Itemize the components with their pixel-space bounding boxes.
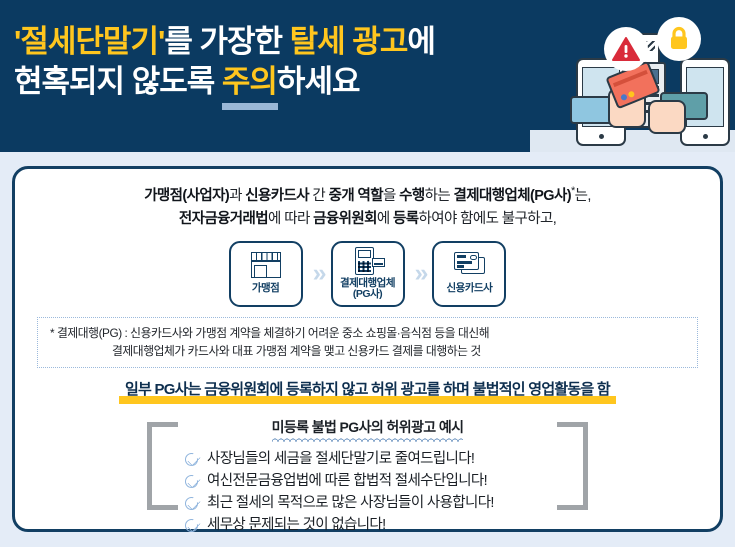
card-dot-yellow <box>627 90 635 98</box>
intro-line-1: 가맹점(사업자)과 신용카드사 간 중개 역할을 수행하는 결제대행업체(PG사… <box>15 183 720 208</box>
flow-step-pg-label: 결제대행업체 (PG사) <box>340 278 395 302</box>
examples-bracket-section: 미등록 불법 PG사의 허위광고 예시 사장님들의 세금을 절세단말기로 줄여드… <box>147 412 588 546</box>
header-illustration <box>530 0 735 152</box>
headline-text-2: 에 <box>407 24 435 59</box>
headline-text-3: 현혹되지 않도록 <box>14 64 222 99</box>
flow-step-pg: 결제대행업체 (PG사) <box>331 241 405 307</box>
check-circle-icon <box>185 496 200 511</box>
flow-step-merchant: 가맹점 <box>229 241 303 307</box>
warning-triangle-icon <box>604 27 648 71</box>
example-text-4: 세무상 문제되는 것이 없습니다! <box>207 514 385 536</box>
list-item: 최근 절세의 목적으로 많은 사장님들이 사용합니다! <box>185 492 588 514</box>
headline: '절세단말기'를 가장한 탈세 광고에 현혹되지 않도록 주의하세요 <box>14 22 574 103</box>
headline-text-4: 하세요 <box>277 64 360 99</box>
highlight-banner: 일부 PG사는 금융위원회에 등록하지 않고 허위 광고를 하며 불법적인 영업… <box>15 378 720 401</box>
hand-right <box>648 100 686 134</box>
check-circle-icon <box>185 518 200 533</box>
intro-line-2: 전자금융거래법에 따라 금융위원회에 등록하여야 함에도 불구하고, <box>15 208 720 231</box>
examples-title-text: 미등록 불법 PG사의 허위광고 예시 <box>272 417 464 441</box>
padlock-icon <box>657 17 701 61</box>
flow-step-cardcompany-label: 신용카드사 <box>447 283 493 295</box>
card-dot-blue <box>620 93 628 101</box>
list-item: 여신전문금융업법에 따른 합법적 절세수단입니다! <box>185 470 588 492</box>
intro-paragraph: 가맹점(사업자)과 신용카드사 간 중개 역할을 수행하는 결제대행업체(PG사… <box>15 183 720 232</box>
phone-home-button-left <box>599 134 604 139</box>
check-circle-icon <box>185 452 200 467</box>
examples-title: 미등록 불법 PG사의 허위광고 예시 <box>147 417 588 441</box>
pg-flow-diagram: 가맹점 » 결제대행업체 (PG사) » 신용카드사 <box>15 241 720 307</box>
check-circle-icon <box>185 474 200 489</box>
phone-home-button-right <box>703 134 708 139</box>
footnote-box: * 결제대행(PG) : 신용카드사와 가맹점 계약을 체결하기 어려운 중소 … <box>37 317 698 369</box>
footnote-line-1: * 결제대행(PG) : 신용카드사와 가맹점 계약을 체결하기 어려운 중소 … <box>50 326 489 340</box>
highlight-banner-text: 일부 PG사는 금융위원회에 등록하지 않고 허위 광고를 하며 불법적인 영업… <box>122 378 613 401</box>
example-text-2: 여신전문금융업법에 따른 합법적 절세수단입니다! <box>207 470 487 492</box>
example-text-3: 최근 절세의 목적으로 많은 사장님들이 사용합니다! <box>207 492 494 514</box>
storefront-icon <box>249 252 283 280</box>
headline-keyword-device: '절세단말기' <box>14 24 164 59</box>
headline-text-1: 를 가장한 <box>164 24 289 59</box>
flow-connector-2: » <box>415 261 423 286</box>
list-item: 사장님들의 세금을 절세단말기로 줄여드립니다! <box>185 448 588 470</box>
infographic-page: '절세단말기'를 가장한 탈세 광고에 현혹되지 않도록 주의하세요 <box>0 0 735 547</box>
example-text-1: 사장님들의 세금을 절세단말기로 줄여드립니다! <box>207 448 474 470</box>
flow-connector-1: » <box>313 261 321 286</box>
examples-list: 사장님들의 세금을 절세단말기로 줄여드립니다! 여신전문금융업법에 따른 합법… <box>147 448 588 536</box>
headline-line-1: '절세단말기'를 가장한 탈세 광고에 <box>14 22 574 62</box>
pos-terminal-icon <box>351 247 385 275</box>
flow-step-merchant-label: 가맹점 <box>252 283 279 295</box>
headline-line-2: 현혹되지 않도록 주의하세요 <box>14 62 574 102</box>
flow-step-pg-label-line2: (PG사) <box>340 289 395 301</box>
list-item: 세무상 문제되는 것이 없습니다! <box>185 514 588 536</box>
headline-keyword-caution: 주의 <box>222 62 277 102</box>
headline-keyword-taxevasion-ad: 탈세 광고 <box>290 24 408 59</box>
credit-cards-icon <box>452 252 486 280</box>
card-stripe <box>613 70 648 87</box>
flow-step-cardcompany: 신용카드사 <box>432 241 506 307</box>
content-card: 가맹점(사업자)과 신용카드사 간 중개 역할을 수행하는 결제대행업체(PG사… <box>12 166 723 532</box>
header-banner: '절세단말기'를 가장한 탈세 광고에 현혹되지 않도록 주의하세요 <box>0 0 735 152</box>
footnote-line-2: 결제대행업체가 카드사와 대표 가맹점 계약을 맺고 신용카드 결제를 대행하는… <box>50 342 687 360</box>
